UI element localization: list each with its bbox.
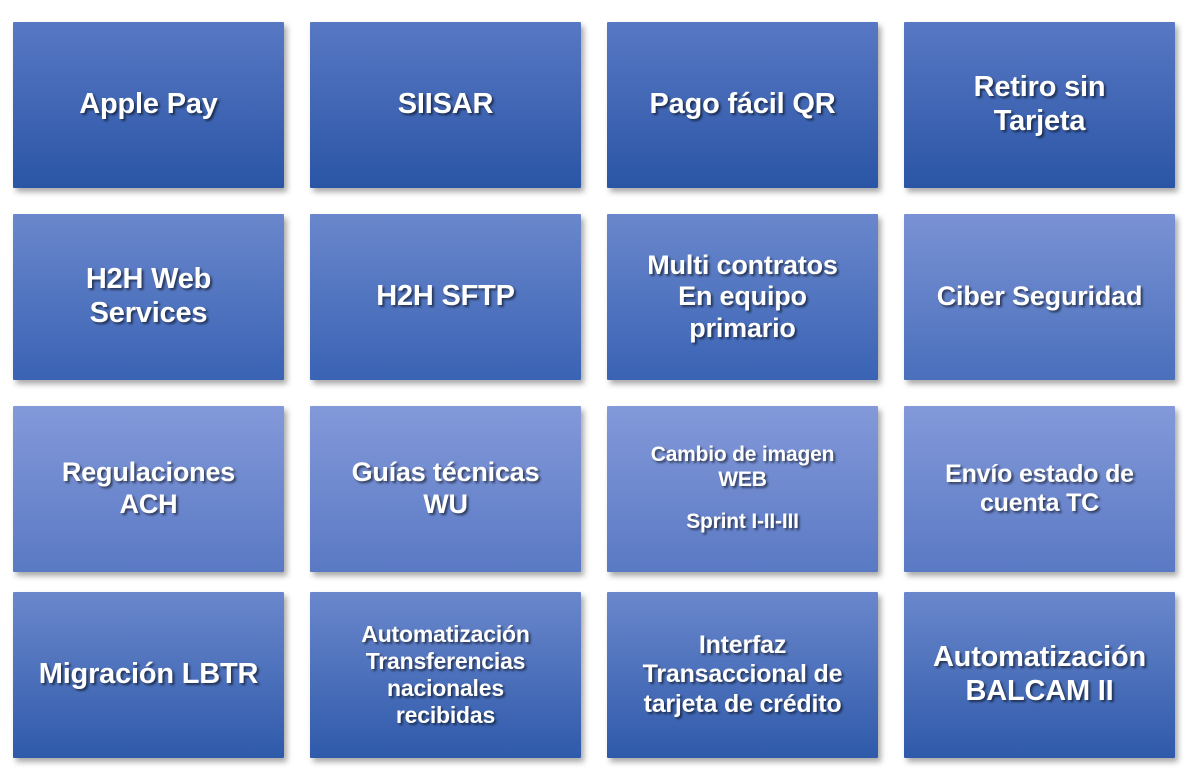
tile-paragraph: RegulacionesACH xyxy=(23,457,274,520)
tile-paragraph: H2H WebServices xyxy=(23,263,274,331)
tile-label: AutomatizaciónBALCAM II xyxy=(914,641,1165,709)
tile-label: Envío estado decuenta TC xyxy=(914,460,1165,519)
tile-label: H2H SFTP xyxy=(320,280,571,314)
tile-paragraph: Guías técnicasWU xyxy=(320,457,571,520)
tile-paragraph: Retiro sinTarjeta xyxy=(914,71,1165,139)
tile-label: Cambio de imagenWEBSprint I-II-III xyxy=(617,443,868,535)
tile-cambio-imagen-web[interactable]: Cambio de imagenWEBSprint I-II-III xyxy=(607,406,878,572)
tile-paragraph: Multi contratosEn equipoprimario xyxy=(617,250,868,345)
tile-paragraph: Pago fácil QR xyxy=(617,88,868,122)
tile-line: H2H Web xyxy=(86,263,211,295)
tile-label: H2H WebServices xyxy=(23,263,274,331)
tile-paragraph: Sprint I-II-III xyxy=(617,510,868,535)
tile-paragraph: Cambio de imagenWEB xyxy=(617,443,868,492)
tile-multi-contratos[interactable]: Multi contratosEn equipoprimario xyxy=(607,214,878,380)
tile-interfaz-transaccional-tc[interactable]: InterfazTransaccional detarjeta de crédi… xyxy=(607,592,878,758)
tile-migracion-lbtr[interactable]: Migración LBTR xyxy=(13,592,284,758)
tile-paragraph: Apple Pay xyxy=(23,88,274,122)
tile-line: Tarjeta xyxy=(994,105,1086,137)
tile-line: primario xyxy=(689,313,795,343)
tile-line: Multi contratos xyxy=(647,250,838,280)
tile-line: WU xyxy=(423,489,468,519)
tile-paragraph: Envío estado decuenta TC xyxy=(914,460,1165,519)
tile-label: Pago fácil QR xyxy=(617,88,868,122)
tile-line: nacionales xyxy=(387,675,504,701)
tile-ciber-seguridad[interactable]: Ciber Seguridad xyxy=(904,214,1175,380)
tile-h2h-sftp[interactable]: H2H SFTP xyxy=(310,214,581,380)
tile-line: ACH xyxy=(120,489,178,519)
tile-line: Regulaciones xyxy=(62,457,235,487)
tile-line: Ciber Seguridad xyxy=(937,281,1143,311)
tile-label: Apple Pay xyxy=(23,88,274,122)
tile-line: Automatización xyxy=(933,641,1146,673)
tile-line: WEB xyxy=(718,468,766,491)
tile-regulaciones-ach[interactable]: RegulacionesACH xyxy=(13,406,284,572)
tile-automatizacion-balcam-ii[interactable]: AutomatizaciónBALCAM II xyxy=(904,592,1175,758)
tile-line: En equipo xyxy=(678,281,807,311)
tile-line: Services xyxy=(90,297,208,329)
tile-automatizacion-transferencias[interactable]: AutomatizaciónTransferenciasnacionalesre… xyxy=(310,592,581,758)
tile-line: BALCAM II xyxy=(965,675,1113,707)
tile-pago-facil-qr[interactable]: Pago fácil QR xyxy=(607,22,878,188)
tile-line: Interfaz xyxy=(699,631,786,659)
tile-line: recibidas xyxy=(396,702,495,728)
tile-label: Retiro sinTarjeta xyxy=(914,71,1165,139)
tile-line: H2H SFTP xyxy=(376,280,515,312)
tile-line: Sprint I-II-III xyxy=(686,510,799,533)
tile-label: AutomatizaciónTransferenciasnacionalesre… xyxy=(320,621,571,729)
tile-line: cuenta TC xyxy=(980,489,1099,517)
tile-h2h-web-services[interactable]: H2H WebServices xyxy=(13,214,284,380)
tile-label: Ciber Seguridad xyxy=(914,281,1165,313)
tile-paragraph: H2H SFTP xyxy=(320,280,571,314)
tile-label: Guías técnicasWU xyxy=(320,457,571,520)
tile-paragraph: InterfazTransaccional detarjeta de crédi… xyxy=(617,631,868,719)
tile-grid: Apple PaySIISARPago fácil QRRetiro sinTa… xyxy=(0,0,1202,779)
tile-line: Retiro sin xyxy=(974,71,1106,103)
tile-paragraph: AutomatizaciónBALCAM II xyxy=(914,641,1165,709)
tile-label: RegulacionesACH xyxy=(23,457,274,520)
tile-guias-tecnicas-wu[interactable]: Guías técnicasWU xyxy=(310,406,581,572)
tile-siisar[interactable]: SIISAR xyxy=(310,22,581,188)
tile-apple-pay[interactable]: Apple Pay xyxy=(13,22,284,188)
tile-line: Automatización xyxy=(361,621,529,647)
tile-line: SIISAR xyxy=(398,88,494,120)
tile-retiro-sin-tarjeta[interactable]: Retiro sinTarjeta xyxy=(904,22,1175,188)
tile-label: Multi contratosEn equipoprimario xyxy=(617,250,868,345)
tile-line: Guías técnicas xyxy=(352,457,540,487)
tile-label: Migración LBTR xyxy=(23,658,274,692)
tile-line: Apple Pay xyxy=(79,88,217,120)
tile-label: InterfazTransaccional detarjeta de crédi… xyxy=(617,631,868,719)
tile-envio-estado-cuenta-tc[interactable]: Envío estado decuenta TC xyxy=(904,406,1175,572)
tile-paragraph: Migración LBTR xyxy=(23,658,274,692)
tile-line: Migración LBTR xyxy=(39,658,259,690)
tile-line: Cambio de imagen xyxy=(651,443,835,466)
tile-line: tarjeta de crédito xyxy=(644,690,842,718)
tile-paragraph: AutomatizaciónTransferenciasnacionalesre… xyxy=(320,621,571,729)
tile-label: SIISAR xyxy=(320,88,571,122)
tile-line: Envío estado de xyxy=(945,460,1134,488)
tile-paragraph: Ciber Seguridad xyxy=(914,281,1165,313)
tile-line: Transferencias xyxy=(366,648,526,674)
tile-paragraph: SIISAR xyxy=(320,88,571,122)
tile-line: Transaccional de xyxy=(643,660,843,688)
tile-line: Pago fácil QR xyxy=(650,88,836,120)
